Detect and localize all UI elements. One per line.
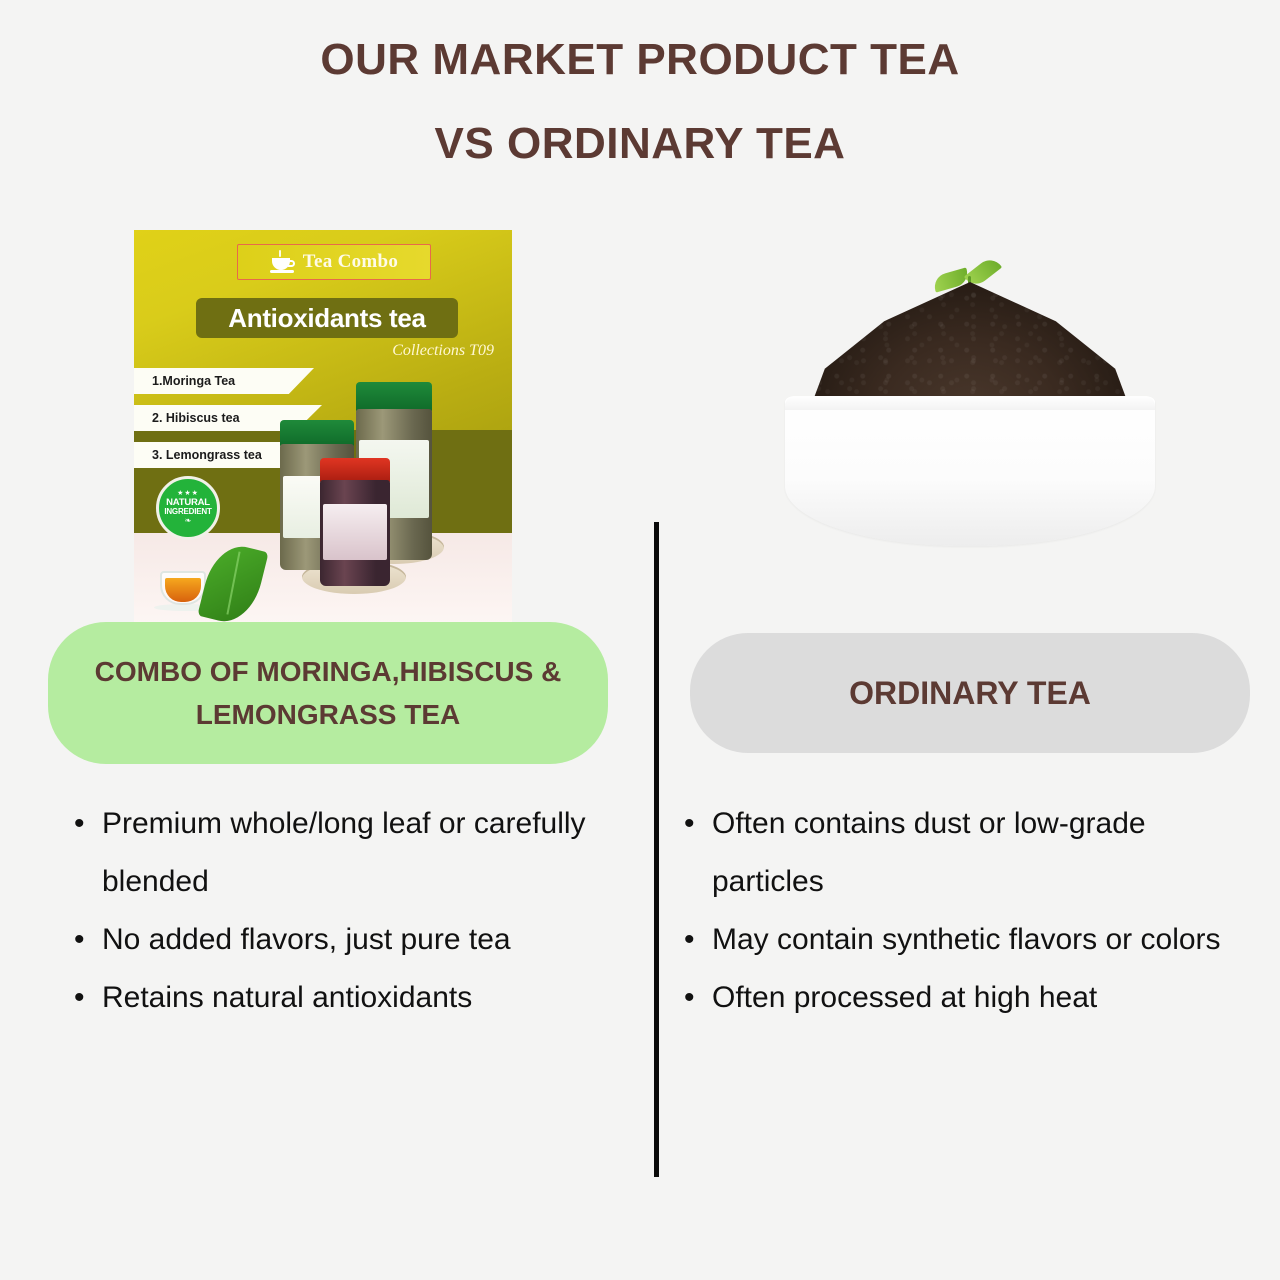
badge-line-2: INGREDIENT [164,508,211,516]
natural-ingredient-badge: ★★★ NATURAL INGREDIENT ❧ [156,476,220,540]
tea-cup-icon [270,250,296,274]
white-bowl [785,396,1155,546]
ordinary-tea-image [760,210,1180,605]
list-item: Retains natural antioxidants [62,969,662,1027]
package-product-title: Antioxidants tea [228,303,425,334]
jar-label-hibiscus [323,504,387,560]
leaf-icon: ❧ [185,517,192,525]
right-drawbacks-list: Often contains dust or low-grade particl… [672,795,1232,1027]
title-line-2: VS ORDINARY TEA [0,108,1280,180]
right-column [690,210,1250,605]
left-benefits-list: Premium whole/long leaf or carefully ble… [62,795,662,1027]
product-package-image: Tea Combo Antioxidants tea Collections T… [134,230,512,625]
right-product-pill: ORDINARY TEA [690,633,1250,753]
page-title: OUR MARKET PRODUCT TEA VS ORDINARY TEA [0,24,1280,180]
list-item: Often contains dust or low-grade particl… [672,795,1232,911]
list-item: Premium whole/long leaf or carefully ble… [62,795,662,911]
left-column: Tea Combo Antioxidants tea Collections T… [48,210,608,625]
tea-combo-logo: Tea Combo [237,244,431,280]
logo-text: Tea Combo [303,251,398,273]
title-line-1: OUR MARKET PRODUCT TEA [0,24,1280,96]
ingredient-strip-1: 1.Moringa Tea [134,368,314,394]
package-title-band: Antioxidants tea [196,298,458,338]
list-item: May contain synthetic flavors or colors [672,911,1232,969]
package-collection-label: Collections T09 [392,342,494,360]
jar-lid-green [356,382,432,412]
jar-hibiscus-tea [320,458,390,586]
package-artwork: Tea Combo Antioxidants tea Collections T… [134,230,512,625]
left-product-pill: COMBO OF MORINGA,HIBISCUS & LEMONGRASS T… [48,622,608,764]
list-item: Often processed at high heat [672,969,1232,1027]
jar-lid-green [280,420,354,447]
list-item: No added flavors, just pure tea [62,911,662,969]
